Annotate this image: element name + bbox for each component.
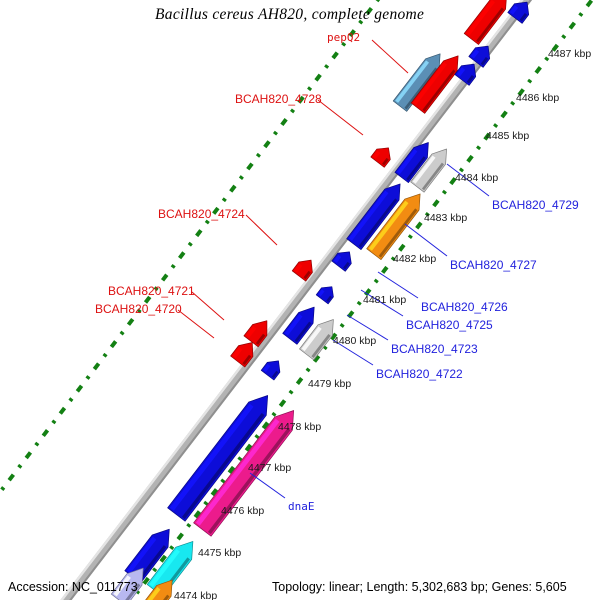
axis-tick-label: 4482 kbp [393, 253, 436, 265]
gene-label-bcah820_4722[interactable]: BCAH820_4722 [376, 367, 463, 381]
leader-line [178, 310, 214, 338]
gene-label-bcah820_4720[interactable]: BCAH820_4720 [95, 302, 182, 316]
axis-tick-label: 4480 kbp [333, 335, 376, 347]
status-bar: Accession: NC_011773 Topology: linear; L… [0, 572, 600, 600]
axis-tick-label: 4476 kbp [221, 505, 264, 517]
leader-line [405, 224, 447, 256]
accession-text: Accession: NC_011773 [8, 580, 138, 594]
gene-label-bcah820_4724[interactable]: BCAH820_4724 [158, 207, 245, 221]
leader-line [318, 100, 363, 135]
axis-tick-label: 4485 kbp [486, 130, 529, 142]
axis-tick-label: 4477 kbp [248, 462, 291, 474]
leader-line [372, 40, 408, 73]
gene-label-dnae[interactable]: dnaE [288, 500, 315, 513]
axis-tick-label: 4478 kbp [278, 421, 321, 433]
page-title: Bacillus cereus AH820, complete genome [155, 6, 424, 24]
axis-tick-label: 4475 kbp [198, 547, 241, 559]
genome-viewer[interactable]: Bacillus cereus AH820, complete genome 4… [0, 0, 600, 600]
gene-label-pepq2[interactable]: pepQ2 [327, 31, 360, 44]
gene-label-bcah820_4725[interactable]: BCAH820_4725 [406, 318, 493, 332]
gene-label-bcah820_4727[interactable]: BCAH820_4727 [450, 258, 537, 272]
gene-arrow [261, 361, 280, 380]
gene-arrow [371, 148, 391, 167]
leader-line [246, 215, 277, 245]
leader-line [250, 473, 285, 498]
axis-tick-label: 4483 kbp [424, 212, 467, 224]
gene-label-bcah820_4721[interactable]: BCAH820_4721 [108, 284, 195, 298]
leader-line [192, 292, 224, 320]
axis-tick-label: 4487 kbp [548, 48, 591, 60]
axis-tick-label: 4486 kbp [516, 92, 559, 104]
axis-tick-label: 4481 kbp [363, 294, 406, 306]
gene-label-bcah820_4726[interactable]: BCAH820_4726 [421, 300, 508, 314]
gene-label-bcah820_4723[interactable]: BCAH820_4723 [391, 342, 478, 356]
gene-label-bcah820_4728[interactable]: BCAH820_4728 [235, 92, 322, 106]
topology-text: Topology: linear; Length: 5,302,683 bp; … [272, 580, 567, 594]
gene-label-bcah820_4729[interactable]: BCAH820_4729 [492, 198, 579, 212]
axis-tick-label: 4479 kbp [308, 378, 351, 390]
axis-tick-label: 4484 kbp [455, 172, 498, 184]
gene-arrow [316, 287, 333, 304]
